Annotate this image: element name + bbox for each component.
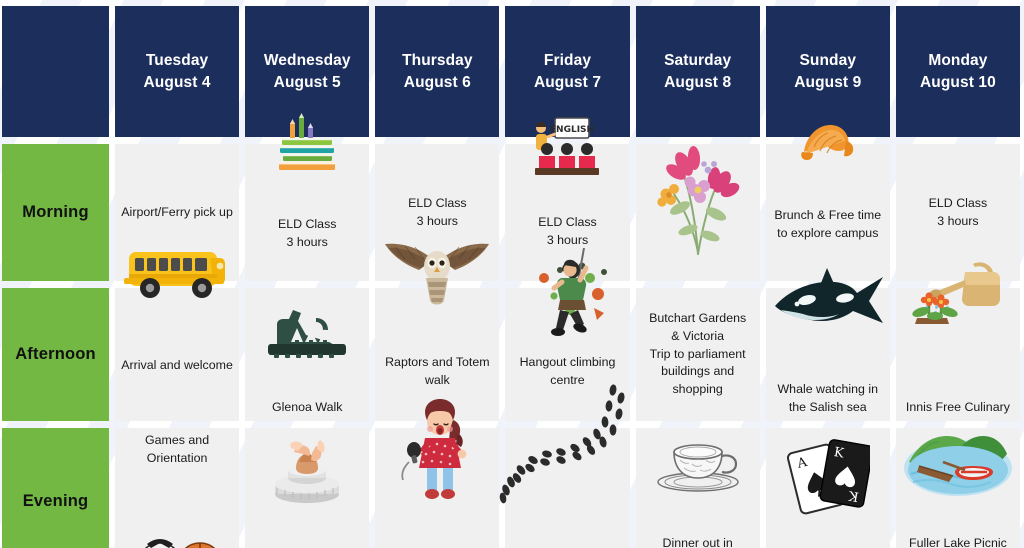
activity-text: Brunch & Free time to explore campus (771, 207, 885, 243)
lake-canoe-icon (903, 422, 1013, 504)
day-header-friday: FridayAugust 7 (505, 6, 629, 137)
schedule-cell-evening-wednesday[interactable]: Pottery class (245, 428, 369, 548)
day-date: August 4 (144, 72, 211, 94)
schedule-cell-afternoon-monday[interactable]: Innis Free Culinary (896, 288, 1020, 421)
schedule-cell-afternoon-wednesday[interactable]: Glenoa Walk (245, 288, 369, 421)
playing-cards-icon: A K K (786, 436, 870, 524)
wildflowers-icon (650, 142, 746, 264)
art-spacer (380, 320, 494, 354)
activity-text: Dinner out in Victoria (641, 535, 755, 548)
activity-text: Glenoa Walk (250, 399, 364, 417)
schedule-cell-morning-monday[interactable]: ELD Class 3 hours (896, 144, 1020, 281)
schedule-cell-morning-friday[interactable]: ENGLISH ELD Class 3 hours (505, 144, 629, 281)
schedule-cell-morning-sunday[interactable]: Brunch & Free time to explore campus (766, 144, 890, 281)
art-spacer (120, 335, 234, 357)
art-spacer (771, 183, 885, 207)
schedule-cell-afternoon-friday[interactable]: Hangout climbing centre (505, 288, 629, 421)
schedule-cell-afternoon-tuesday[interactable]: Arrival and welcome (115, 288, 239, 421)
activity-text: Innis Free Culinary (901, 399, 1015, 417)
day-date: August 9 (794, 72, 861, 94)
time-slot-label-evening: Evening (2, 428, 109, 548)
art-spacer (250, 174, 364, 216)
schedule-cell-morning-saturday[interactable] (636, 144, 760, 281)
day-name: Sunday (799, 50, 856, 72)
svg-text:K: K (847, 487, 859, 504)
schedule-cell-evening-sunday[interactable]: A K K Games night (766, 428, 890, 548)
activity-text: Arrival and welcome (120, 357, 234, 375)
day-name: Saturday (664, 50, 731, 72)
hiking-boot-icon (261, 300, 353, 364)
schedule-cell-afternoon-sunday[interactable]: Whale watching in the Salish sea (766, 288, 890, 421)
art-spacer (510, 320, 624, 354)
time-slot-label-morning: Morning (2, 144, 109, 281)
schedule-cell-evening-tuesday[interactable]: Games and Orientation (115, 428, 239, 548)
activity-text: ELD Class 3 hours (510, 214, 624, 250)
activity-text: Hangout climbing centre (510, 354, 624, 390)
day-name: Wednesday (264, 50, 351, 72)
day-name: Monday (928, 50, 987, 72)
day-date: August 5 (274, 72, 341, 94)
day-name: Thursday (402, 50, 473, 72)
weekly-schedule-grid: TuesdayAugust 4WednesdayAugust 5Thursday… (0, 0, 1024, 548)
activity-text: Games and Orientation (120, 432, 234, 468)
schedule-corner-cell (2, 6, 109, 137)
schedule-cell-evening-monday[interactable]: Fuller Lake Picnic Dinner (896, 428, 1020, 548)
day-name: Friday (544, 50, 591, 72)
activity-text: Butchart Gardens & Victoria Trip to parl… (641, 310, 755, 400)
day-date: August 7 (534, 72, 601, 94)
day-date: August 10 (920, 72, 996, 94)
day-date: August 6 (404, 72, 471, 94)
activity-text: ELD Class 3 hours (250, 216, 364, 252)
schedule-cell-afternoon-saturday[interactable]: Butchart Gardens & Victoria Trip to parl… (636, 288, 760, 421)
schedule-cell-evening-friday[interactable]: Stoney Hill walk (505, 428, 629, 548)
art-spacer (771, 347, 885, 381)
svg-text:A: A (795, 455, 809, 472)
schedule-cell-morning-tuesday[interactable]: Airport/Ferry pick up (115, 144, 239, 281)
teacup-icon (652, 432, 744, 500)
activity-text: Airport/Ferry pick up (120, 204, 234, 222)
day-header-saturday: SaturdayAugust 8 (636, 6, 760, 137)
time-slot-label-afternoon: Afternoon (2, 288, 109, 421)
sports-balls-icon (130, 531, 230, 548)
activity-text: Whale watching in the Salish sea (771, 381, 885, 417)
art-spacer (901, 357, 1015, 399)
day-date: August 8 (664, 72, 731, 94)
activity-text: ELD Class 3 hours (380, 195, 494, 231)
activity-text: Fuller Lake Picnic Dinner (901, 535, 1015, 548)
schedule-cell-evening-saturday[interactable]: Dinner out in Victoria (636, 428, 760, 548)
schedule-cell-afternoon-thursday[interactable]: Raptors and Totem walk (375, 288, 499, 421)
schedule-cell-evening-thursday[interactable]: Talent Quest (375, 428, 499, 548)
schedule-cell-morning-wednesday[interactable]: ELD Class 3 hours (245, 144, 369, 281)
day-header-wednesday: WednesdayAugust 5 (245, 6, 369, 137)
day-header-thursday: ThursdayAugust 6 (375, 6, 499, 137)
day-name: Tuesday (146, 50, 208, 72)
day-header-sunday: SundayAugust 9 (766, 6, 890, 137)
day-header-tuesday: TuesdayAugust 4 (115, 6, 239, 137)
pottery-wheel-icon (264, 432, 350, 516)
activity-text: ELD Class 3 hours (901, 195, 1015, 231)
art-spacer (510, 176, 624, 214)
svg-text:K: K (832, 445, 844, 462)
activity-text: Raptors and Totem walk (380, 354, 494, 390)
schedule-cell-morning-thursday[interactable]: ELD Class 3 hours (375, 144, 499, 281)
day-header-monday: MondayAugust 10 (896, 6, 1020, 137)
